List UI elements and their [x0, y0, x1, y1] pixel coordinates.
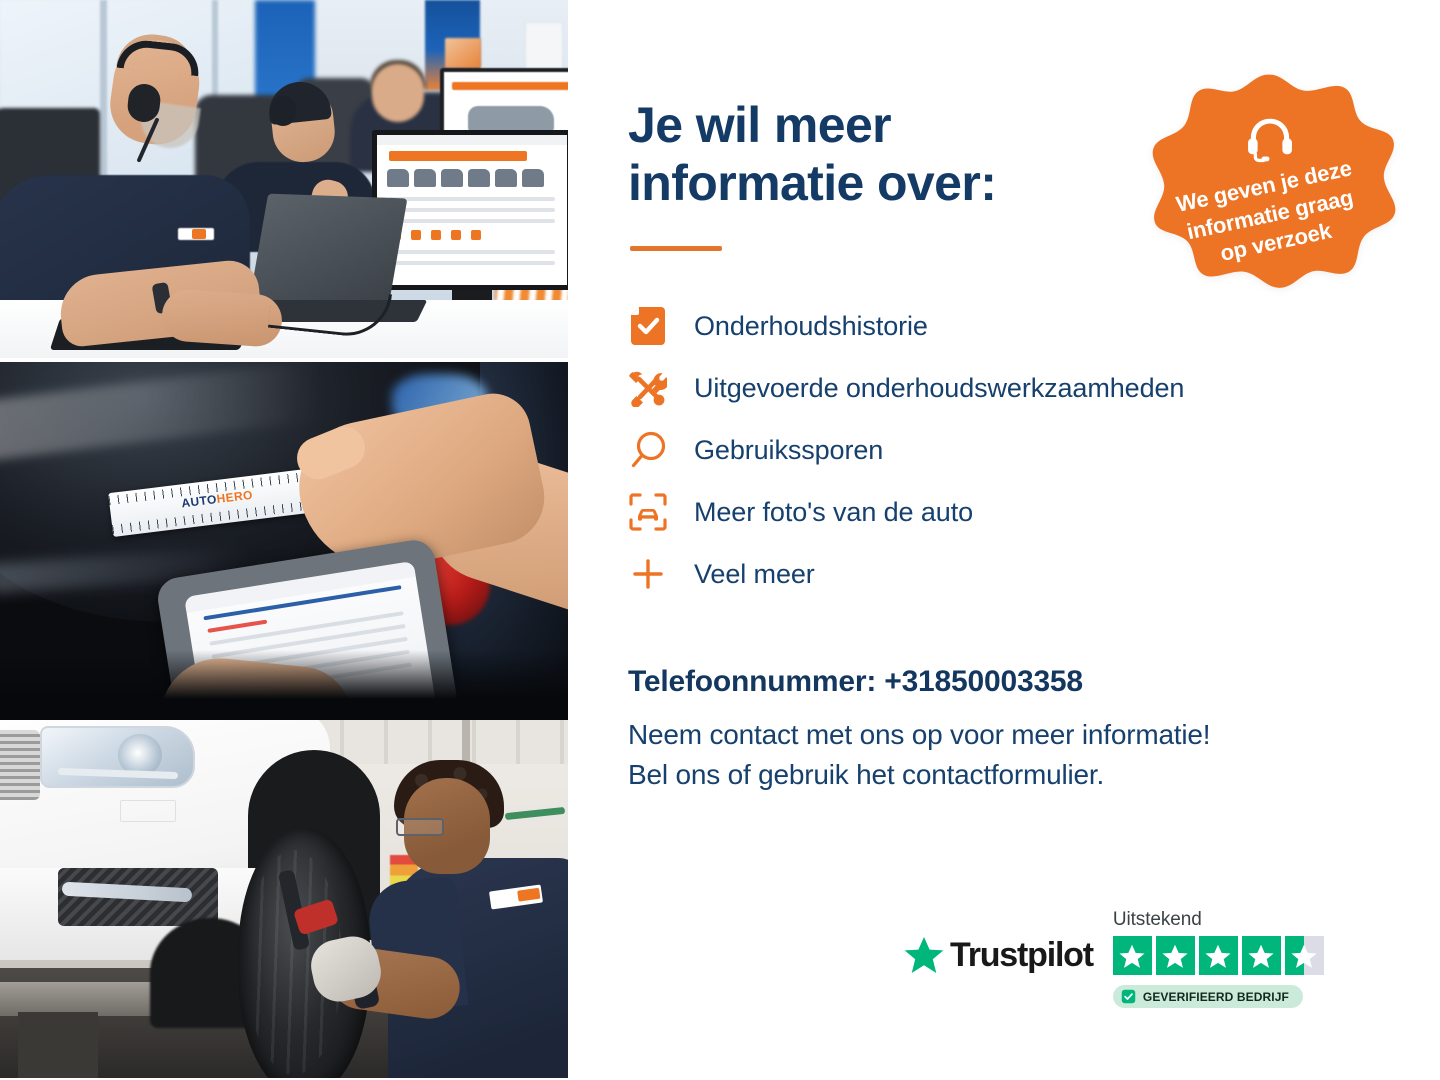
verified-check-icon: [1121, 989, 1136, 1004]
page-title: Je wil meer informatie over:: [628, 96, 1148, 212]
document-check-icon: [628, 306, 668, 346]
autohero-polo-logo-accent: [192, 229, 206, 239]
page-title-line-1: Je wil meer: [628, 97, 891, 153]
verified-company-label: GEVERIFIEERD BEDRIJF: [1143, 990, 1289, 1004]
star-half: [1285, 936, 1324, 975]
page-title-line-2: informatie over:: [628, 155, 996, 211]
glasses-icon: [396, 818, 444, 836]
tools-cross-icon: [628, 368, 668, 408]
feature-label: Gebruikssporen: [694, 434, 883, 466]
phone-number[interactable]: Telefoonnummer: +31850003358: [628, 665, 1380, 699]
feature-item-gebruikssporen: Gebruikssporen: [628, 419, 1380, 481]
headset-icon: [270, 96, 296, 126]
poster-photo: [445, 38, 481, 68]
trustpilot-widget[interactable]: Trustpilot Uitstekend: [904, 909, 1324, 1008]
photo-vignette: [0, 650, 568, 720]
contact-text: Neem contact met ons op voor meer inform…: [628, 715, 1380, 795]
feature-label: Veel meer: [694, 558, 815, 590]
title-divider: [630, 246, 722, 251]
star-filled: [1156, 936, 1195, 975]
feature-item-veel-meer: Veel meer: [628, 543, 1380, 605]
trustpilot-wordmark: Trustpilot: [950, 936, 1093, 975]
car-inspection-photo: AUTOHERO: [0, 362, 568, 720]
feature-item-onderhoudswerkzaamheden: Uitgevoerde onderhoudswerkzaamheden: [628, 357, 1380, 419]
feature-item-meer-fotos: Meer foto's van de auto: [628, 481, 1380, 543]
contact-block: Telefoonnummer: +31850003358 Neem contac…: [628, 665, 1380, 795]
call-center-agents-photo: [0, 0, 568, 358]
contact-text-line-1: Neem contact met ons op voor meer inform…: [628, 719, 1210, 750]
trustpilot-logo: Trustpilot: [904, 935, 1093, 975]
request-info-badge: We geven je deze informatie graag op ver…: [1136, 72, 1404, 340]
license-plate-recess: [120, 800, 176, 822]
trustpilot-rating-label: Uitstekend: [1113, 909, 1202, 931]
trustpilot-star-icon: [904, 935, 944, 975]
car-scan-frame-icon: [628, 492, 668, 532]
agent-far-head: [372, 64, 424, 122]
magnifier-icon: [628, 430, 668, 470]
lift-post: [18, 1012, 98, 1078]
feature-label: Uitgevoerde onderhoudswerkzaamheden: [694, 372, 1184, 404]
verified-company-badge: GEVERIFIEERD BEDRIJF: [1113, 985, 1303, 1008]
content-panel: Je wil meer informatie over: Onderhoudsh…: [568, 0, 1440, 1080]
headset-icon: [1243, 112, 1297, 166]
star-filled: [1199, 936, 1238, 975]
star-filled: [1242, 936, 1281, 975]
feature-label: Onderhoudshistorie: [694, 310, 928, 342]
trustpilot-stars: [1113, 936, 1324, 975]
trustpilot-rating: Uitstekend: [1113, 909, 1324, 1008]
radiator-grille: [0, 730, 40, 800]
feature-list: Onderhoudshistorie: [628, 295, 1380, 605]
wall-notice: [525, 22, 563, 72]
agent-main-hand: [160, 288, 283, 348]
workshop-wheel-photo: [0, 720, 568, 1078]
badge-content: We geven je deze informatie graag op ver…: [1136, 72, 1404, 340]
promo-page: AUTOHERO: [0, 0, 1440, 1080]
plus-icon: [628, 554, 668, 594]
contact-text-line-2: Bel ons of gebruik het contactformulier.: [628, 759, 1104, 790]
badge-text: We geven je deze informatie graag op ver…: [1158, 151, 1381, 279]
photo-column: AUTOHERO: [0, 0, 568, 1080]
star-filled: [1113, 936, 1152, 975]
feature-label: Meer foto's van de auto: [694, 496, 973, 528]
